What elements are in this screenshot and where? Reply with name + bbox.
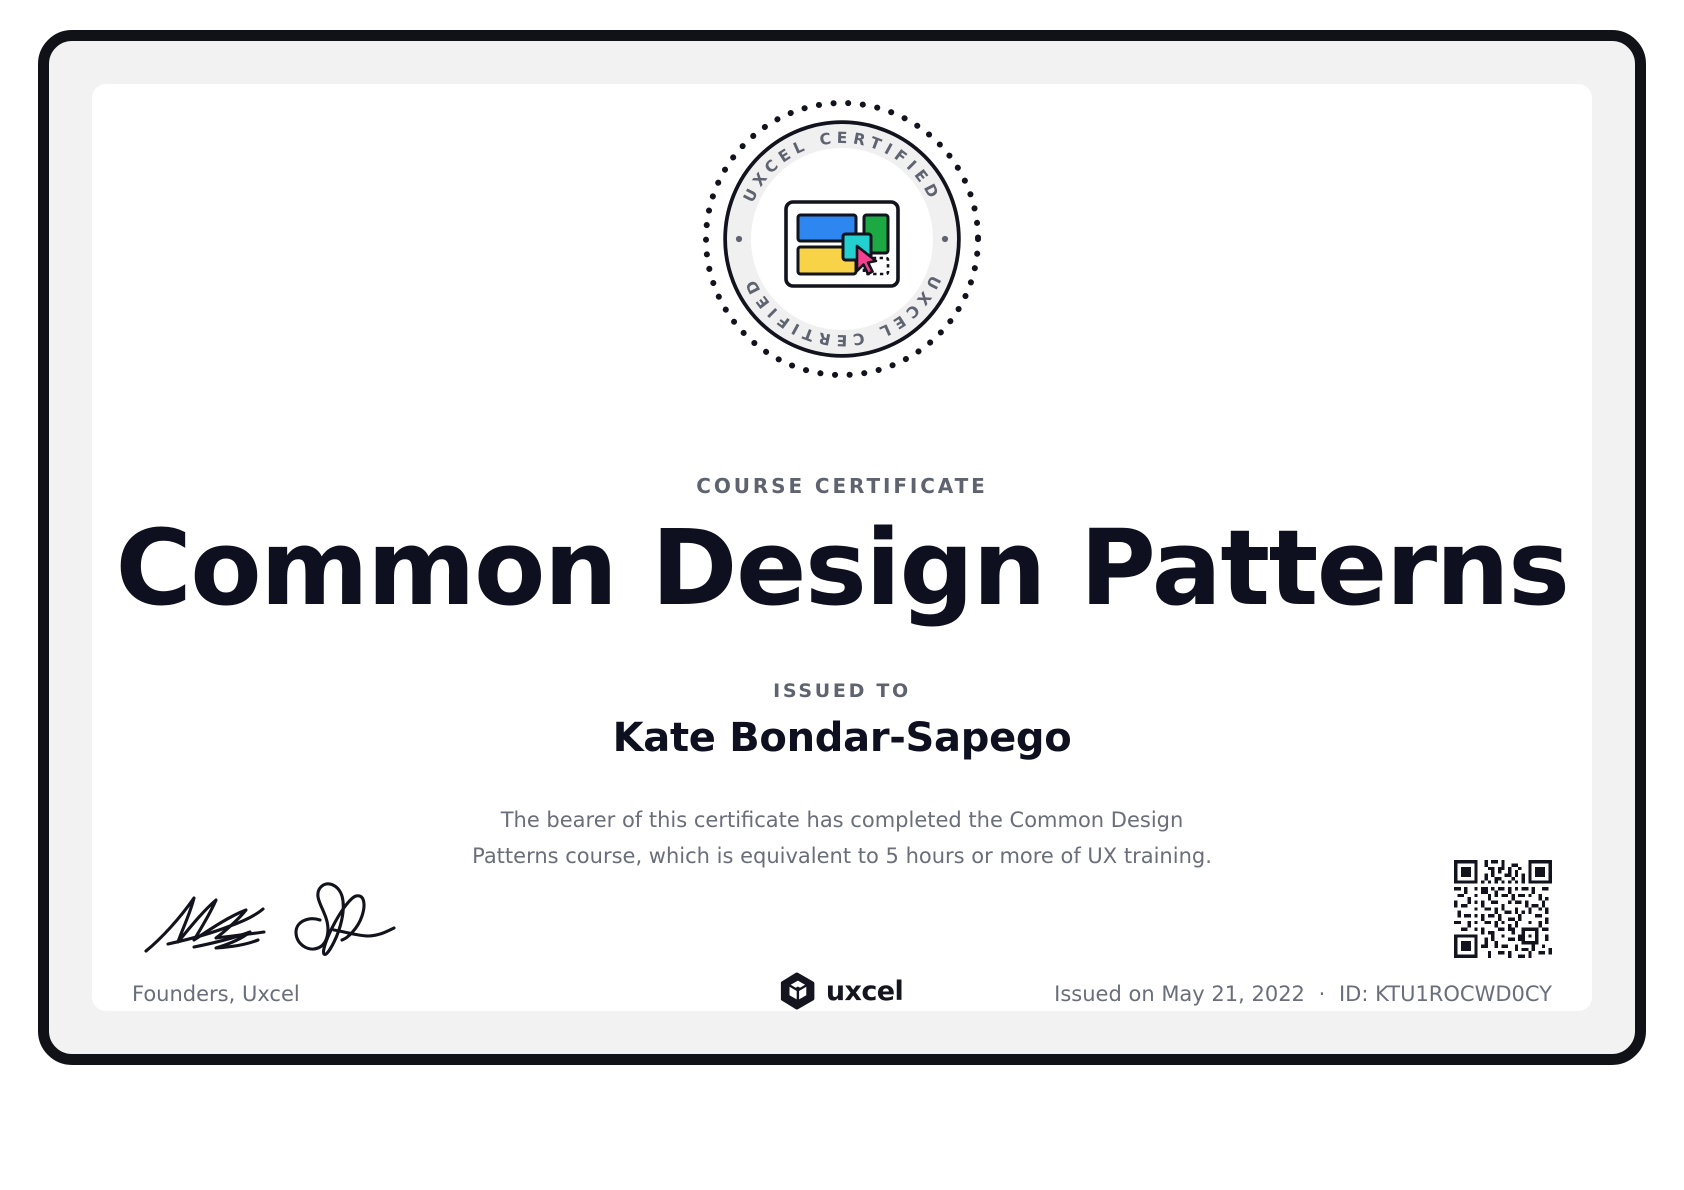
design-patterns-window-icon — [786, 202, 898, 286]
uxcel-certified-seal: UXCEL CERTIFIED UXCEL CERTIFIED — [697, 94, 987, 384]
certificate-body-text: The bearer of this certificate has compl… — [472, 802, 1212, 874]
uxcel-brand-footer: uxcel — [781, 972, 903, 1010]
meta-separator: · — [1312, 982, 1333, 1006]
course-title: Common Design Patterns — [92, 509, 1592, 627]
certificate-id: ID: KTU1ROCWD0CY — [1339, 982, 1552, 1006]
signature-two-stroke-b — [334, 928, 394, 936]
issue-metadata: Issued on May 21, 2022 · ID: KTU1ROCWD0C… — [1054, 982, 1552, 1006]
seal-bullet-left — [736, 236, 742, 242]
uxcel-hexagon-logo-icon — [781, 972, 815, 1010]
signature-two-stroke-a — [296, 884, 364, 955]
issued-to-label: ISSUED TO — [92, 680, 1592, 702]
founder-signatures — [132, 874, 432, 960]
seal-bullet-right — [942, 236, 948, 242]
eyebrow-label: COURSE CERTIFICATE — [92, 474, 1592, 498]
issued-on-date: Issued on May 21, 2022 — [1054, 982, 1305, 1006]
recipient-name: Kate Bondar-Sapego — [92, 715, 1592, 761]
certificate-frame: UXCEL CERTIFIED UXCEL CERTIFIED — [38, 30, 1646, 1065]
certificate-card: UXCEL CERTIFIED UXCEL CERTIFIED — [92, 84, 1592, 1011]
uxcel-wordmark: uxcel — [826, 976, 903, 1007]
founders-caption: Founders, Uxcel — [132, 982, 300, 1006]
verification-qr-code[interactable] — [1454, 860, 1552, 958]
